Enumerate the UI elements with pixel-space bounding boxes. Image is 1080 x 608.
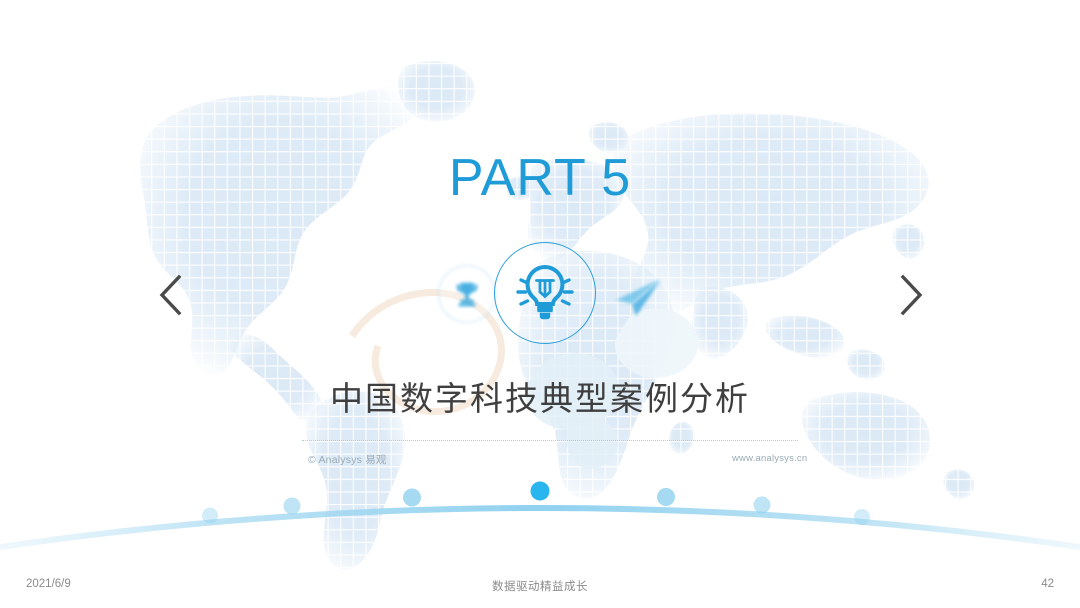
- progress-dot-active[interactable]: [531, 482, 550, 501]
- progress-dot[interactable]: [403, 489, 421, 507]
- progress-arc: [0, 455, 1080, 565]
- slide-title: 中国数字科技典型案例分析: [0, 372, 1080, 420]
- credit-divider: [302, 440, 798, 442]
- section-icon-cluster: [0, 232, 1080, 358]
- progress-dot[interactable]: [657, 488, 675, 506]
- arc-line: [0, 508, 1080, 547]
- paper-plane-icon: [608, 270, 670, 324]
- progress-dot[interactable]: [202, 508, 218, 524]
- progress-dot[interactable]: [284, 498, 301, 515]
- lightbulb-icon: [510, 258, 580, 328]
- progress-dot[interactable]: [754, 497, 771, 514]
- footer-page-number: 42: [1041, 578, 1054, 590]
- trophy-icon: [438, 265, 496, 323]
- presentation-slide: PART 5: [0, 0, 1080, 608]
- lightbulb-icon-circle[interactable]: [494, 242, 596, 344]
- progress-dot[interactable]: [854, 509, 870, 525]
- part-label: PART 5: [0, 148, 1080, 208]
- footer-tagline: 数据驱动精益成长: [0, 578, 1080, 594]
